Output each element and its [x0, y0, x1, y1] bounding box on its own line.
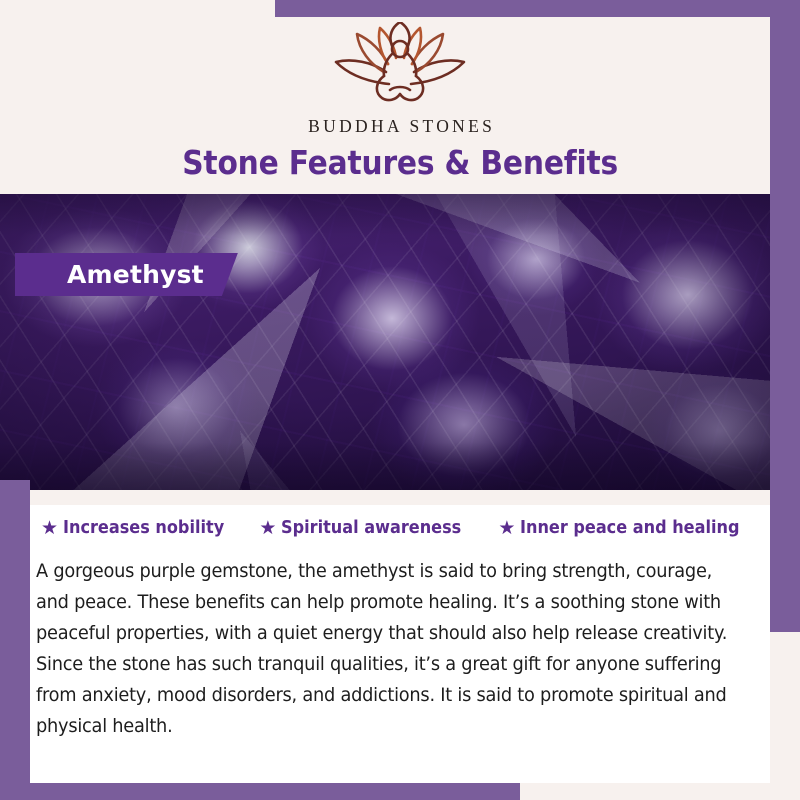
- stone-name-label: Amethyst: [67, 260, 204, 289]
- benefit-label-1: Increases nobility: [63, 518, 224, 538]
- benefit-item-2: ★ Spiritual awareness: [259, 518, 477, 538]
- brand-name: BUDDHA STONES: [0, 116, 800, 137]
- infographic-page: BUDDHA STONES Stone Features & Benefits …: [0, 0, 800, 800]
- star-icon: ★: [259, 519, 276, 538]
- benefit-item-3: ★ Inner peace and healing: [498, 518, 759, 538]
- frame-bar-left: [0, 480, 30, 800]
- benefit-label-3: Inner peace and healing: [520, 518, 739, 538]
- header: BUDDHA STONES Stone Features & Benefits: [0, 0, 800, 194]
- frame-bar-bottom-left: [0, 783, 520, 800]
- frame-bar-top-right: [275, 0, 800, 17]
- amethyst-crystal-photo: [0, 194, 800, 490]
- hero-image: [0, 194, 800, 490]
- benefit-item-1: ★ Increases nobility: [41, 518, 238, 538]
- benefits-list: ★ Increases nobility ★ Spiritual awarene…: [30, 518, 770, 538]
- star-icon: ★: [41, 519, 58, 538]
- brand-logo: BUDDHA STONES: [0, 22, 800, 137]
- stone-name-banner: Amethyst: [15, 253, 238, 296]
- content-top-strip: [30, 490, 770, 505]
- benefit-label-2: Spiritual awareness: [281, 518, 461, 538]
- lotus-meditation-figure-icon: [326, 22, 474, 114]
- star-icon: ★: [498, 519, 515, 538]
- stone-description: A gorgeous purple gemstone, the amethyst…: [36, 556, 731, 742]
- page-title-text: Stone Features & Benefits: [182, 143, 618, 182]
- page-title: Stone Features & Benefits: [0, 143, 800, 182]
- crystal-vignette-layer: [0, 194, 800, 490]
- frame-bar-right: [770, 0, 800, 632]
